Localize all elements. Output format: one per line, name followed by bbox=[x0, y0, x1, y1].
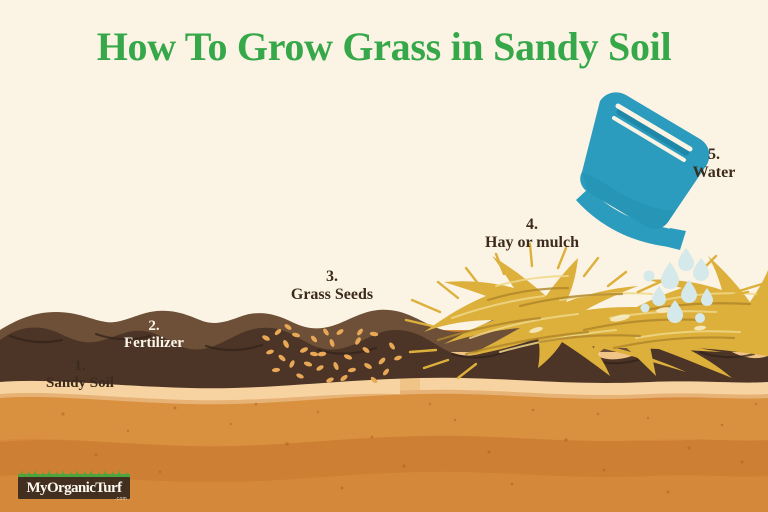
scene-illustration bbox=[0, 0, 768, 512]
water-drop-icon bbox=[644, 271, 655, 282]
step-label-water: 5. Water bbox=[660, 146, 768, 182]
step-label-hay-or-mulch: 4. Hay or mulch bbox=[440, 216, 624, 252]
water-drop-icon bbox=[695, 313, 705, 323]
infographic-canvas: How To Grow Grass in Sandy Soil 1. Sandy… bbox=[0, 0, 768, 512]
step-number: 2. bbox=[74, 318, 234, 335]
step-name: Grass Seeds bbox=[246, 286, 418, 304]
logo-wordmark: MyOrganicTurf bbox=[18, 477, 130, 499]
step-name: Water bbox=[660, 164, 768, 182]
step-number: 3. bbox=[246, 268, 418, 286]
logo-tld: .com bbox=[115, 496, 127, 502]
step-name: Hay or mulch bbox=[440, 234, 624, 252]
water-drop-icon bbox=[641, 304, 650, 313]
step-number: 1. bbox=[0, 358, 160, 375]
step-label-grass-seeds: 3. Grass Seeds bbox=[246, 268, 418, 304]
step-label-sandy-soil: 1. Sandy Soil bbox=[0, 358, 160, 392]
site-logo[interactable]: MyOrganicTurf .com bbox=[18, 470, 130, 502]
step-label-fertilizer: 2. Fertilizer bbox=[74, 318, 234, 352]
page-title: How To Grow Grass in Sandy Soil bbox=[0, 26, 768, 68]
step-number: 4. bbox=[440, 216, 624, 234]
step-name: Fertilizer bbox=[74, 335, 234, 352]
step-number: 5. bbox=[660, 146, 768, 164]
step-name: Sandy Soil bbox=[0, 375, 160, 392]
